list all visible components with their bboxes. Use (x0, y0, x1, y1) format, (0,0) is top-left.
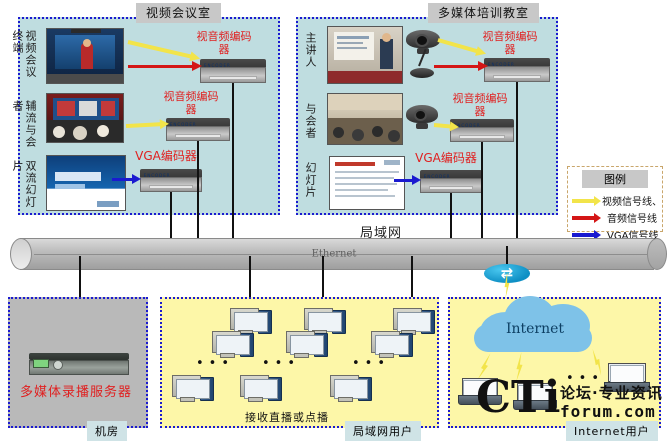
ellipsis-dots: ••• (352, 359, 390, 369)
signal-video-2 (126, 124, 170, 126)
photo-slides (329, 156, 405, 210)
photo-aux-participants (46, 93, 124, 143)
pc-icon (240, 375, 282, 405)
room-title-training-classroom: 多媒体培训教室 (428, 3, 539, 23)
internet-label: Internet (470, 321, 600, 337)
photo-participants (327, 93, 403, 145)
legend-item-audio: 音频信号线 (568, 209, 662, 226)
vga-line-icon (572, 232, 602, 238)
pc-icon (172, 375, 214, 405)
laptop-icon (513, 383, 557, 411)
ethernet-label: Ethernet (10, 249, 658, 260)
link-enc-av1-bus (232, 83, 234, 249)
legend-box: 图例 视频信号线、 音频信号线 VGA信号线 (567, 166, 663, 232)
label-presenter: 主讲人 (304, 32, 317, 74)
room-title-video-conference: 视频会议室 (136, 3, 221, 23)
photo-presenter (327, 26, 403, 84)
ellipsis-dots: ••• (566, 374, 604, 384)
signal-video-4 (434, 125, 460, 127)
topology-diagram: 视频会议室 视频会议终端 辅流与会者 双流幻灯片 (0, 0, 668, 445)
photo-dual-slides (46, 155, 126, 211)
encoder-caption-av-3: 视音频编码器 (482, 30, 538, 56)
laptop-icon (458, 378, 502, 406)
laptop-icon (604, 363, 650, 393)
ethernet-bus: Ethernet (10, 238, 658, 270)
label-slides: 幻灯片 (304, 162, 317, 204)
microphone-icon (404, 48, 438, 78)
encoder-vga-2: ENCODER (420, 170, 482, 193)
ellipsis-dots: ••• (196, 359, 234, 369)
link-enc-av4-bus (481, 142, 483, 249)
video-line-icon (572, 198, 597, 204)
label-participants: 与会者 (304, 103, 317, 145)
label-dual-slides: 双流幻灯片 (11, 160, 37, 212)
ellipsis-dots: ••• (262, 359, 300, 369)
encoder-vga-1: ENCODER (140, 169, 202, 192)
label-aux-participants: 辅流与会者 (11, 100, 37, 152)
encoder-caption-av-4: 视音频编码器 (449, 92, 511, 118)
zone-caption-internet-users: Internet用户 (566, 421, 658, 441)
internet-cloud: Internet (470, 294, 600, 356)
encoder-av-1: ENCODER (200, 59, 266, 83)
encoder-av-4: ENCODER (450, 119, 514, 142)
multimedia-recording-server (29, 353, 129, 375)
photo-video-terminal (46, 28, 124, 84)
server-label: 多媒体录播服务器 (20, 381, 132, 400)
encoder-caption-vga-1: VGA编码器 (131, 150, 201, 163)
encoder-av-3: ENCODER (484, 58, 550, 82)
zone-caption-lan-users: 局域网用户 (345, 421, 421, 441)
label-video-terminal: 视频会议终端 (11, 30, 37, 88)
encoder-caption-vga-2: VGA编码器 (411, 152, 481, 165)
pc-icon (330, 375, 372, 405)
zone-caption-server-room: 机房 (87, 421, 127, 441)
audio-line-icon (572, 215, 602, 221)
link-enc-av3-bus (516, 82, 518, 249)
encoder-caption-av-2: 视音频编码器 (163, 90, 219, 116)
encoder-caption-av-1: 视音频编码器 (196, 30, 252, 56)
legend-item-video: 视频信号线、 (568, 192, 662, 209)
encoder-av-2: ENCODER (166, 118, 230, 141)
lan-users-body-text: 接收直播或点播 (245, 409, 329, 425)
link-enc-av2-bus (197, 141, 199, 249)
legend-title: 图例 (582, 170, 648, 188)
